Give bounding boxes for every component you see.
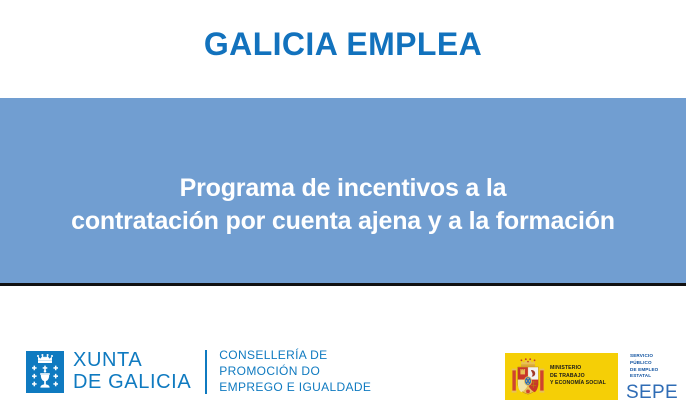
ministerio-line-1: MINISTERIO — [550, 365, 606, 373]
sepe-subtitle-line-2: DE EMPLEO ESTATAL — [630, 367, 674, 380]
ministerio-de-trabajo-logo: MINISTERIO DE TRABAJO Y ECONOMÍA SOCIAL — [505, 353, 618, 400]
conselleria-line-2: PROMOCIÓN DO — [219, 364, 371, 380]
conselleria-wordmark: CONSELLERÍA DE PROMOCIÓN DO EMPREGO E IG… — [219, 348, 371, 396]
sepe-logo: SERVICIO PÚBLICO DE EMPLEO ESTATAL SEPE — [618, 353, 686, 400]
subtitle-line-1: Programa de incentivos a la — [71, 172, 615, 205]
xunta-de-galicia-emblem-icon — [26, 351, 64, 393]
subtitle-text: Programa de incentivos a la contratación… — [71, 144, 615, 238]
ministerio-line-3: Y ECONOMÍA SOCIAL — [550, 380, 606, 388]
page-title: GALICIA EMPLEA — [204, 28, 482, 60]
xunta-wordmark-line-2: DE GALICIA — [73, 372, 191, 394]
conselleria-line-1: CONSELLERÍA DE — [219, 348, 371, 364]
header-band: GALICIA EMPLEA — [0, 0, 686, 98]
sepe-subtitle: SERVICIO PÚBLICO DE EMPLEO ESTATAL — [630, 353, 674, 380]
spain-coat-of-arms-icon — [511, 357, 545, 397]
lockup-divider — [205, 350, 207, 394]
sepe-subtitle-line-1: SERVICIO PÚBLICO — [630, 353, 674, 366]
ministerio-wordmark: MINISTERIO DE TRABAJO Y ECONOMÍA SOCIAL — [550, 365, 606, 388]
conselleria-line-3: EMPREGO E IGUALDADE — [219, 380, 371, 396]
sepe-acronym: SEPE — [626, 383, 678, 402]
xunta-de-galicia-lockup: XUNTA DE GALICIA CONSELLERÍA DE PROMOCIÓ… — [26, 348, 371, 396]
subtitle-band: Programa de incentivos a la contratación… — [0, 98, 686, 283]
xunta-wordmark: XUNTA DE GALICIA — [73, 350, 191, 393]
subtitle-line-2: contratación por cuenta ajena y a la for… — [71, 205, 615, 238]
footer-area: XUNTA DE GALICIA CONSELLERÍA DE PROMOCIÓ… — [0, 286, 686, 410]
xunta-wordmark-line-1: XUNTA — [73, 350, 191, 372]
government-logos-lockup: MINISTERIO DE TRABAJO Y ECONOMÍA SOCIAL … — [505, 353, 686, 400]
